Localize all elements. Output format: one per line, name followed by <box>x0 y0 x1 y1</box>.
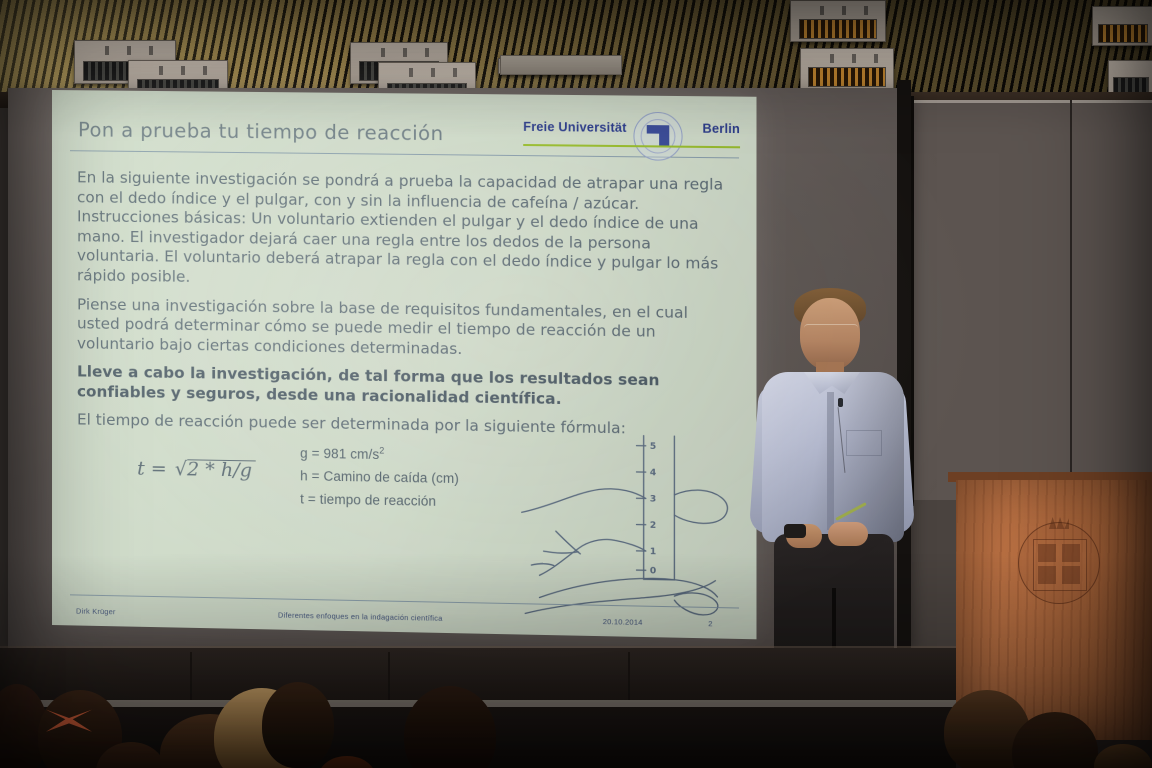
svg-text:2: 2 <box>650 521 656 531</box>
definition-g: g = 981 cm/s2 <box>300 438 459 467</box>
crest-quarter <box>1038 566 1056 584</box>
slide-paragraph: Piense una investigación sobre la base d… <box>77 295 734 364</box>
fu-berlin-seal-icon <box>633 112 682 161</box>
wall-seam <box>388 652 390 700</box>
superscript-2: 2 <box>379 445 384 455</box>
ceiling-air-vent <box>500 55 622 75</box>
fixture-vent <box>802 6 873 15</box>
slide-body: En la siguiente investigación se pondrá … <box>77 168 734 450</box>
svg-text:5: 5 <box>650 442 656 452</box>
footer-author: Dirk Krüger <box>76 606 116 616</box>
footer-date: 20.10.2014 <box>603 617 643 627</box>
lapel-microphone <box>838 398 843 407</box>
lecture-hall-scene: Pon a prueba tu tiempo de reacción Freie… <box>0 0 1152 768</box>
hand-catching-ruler-diagram: 5 4 3 2 1 0 <box>521 426 741 622</box>
formula-lhs: t = <box>137 457 167 480</box>
fixture-vent <box>391 68 464 77</box>
presenter-right-hand <box>828 522 868 546</box>
crest-quarter <box>1062 544 1080 562</box>
crest-shield <box>1033 539 1087 591</box>
projected-slide: Pon a prueba tu tiempo de reacción Freie… <box>52 90 756 639</box>
fu-logo-right-text: Berlin <box>702 122 740 137</box>
audience-head <box>262 682 334 768</box>
sketch-svg: 5 4 3 2 1 0 <box>521 426 741 622</box>
slide-paragraph: En la siguiente investigación se pondrá … <box>77 168 734 294</box>
ceiling-light-fixture <box>1092 6 1152 46</box>
fixture-vent <box>141 66 215 75</box>
square-root-icon: √2 * h/g <box>173 458 256 481</box>
acoustic-wall-panel <box>912 100 1152 500</box>
wall-seam <box>190 652 192 700</box>
wall-seam <box>628 652 630 700</box>
panel-seam <box>1070 100 1072 500</box>
ceiling-light-fixture <box>790 0 886 42</box>
slide-title: Pon a prueba tu tiempo de reacción <box>78 118 443 145</box>
slide-paragraph-bold: Lleve a cabo la investigación, de tal fo… <box>77 363 734 412</box>
fixture-vent <box>363 48 436 57</box>
glasses-icon <box>804 324 858 333</box>
slide-surface: Pon a prueba tu tiempo de reacción Freie… <box>52 90 756 639</box>
ceiling-light-fixture <box>800 48 894 90</box>
fu-logo-underline <box>523 144 740 149</box>
reaction-time-formula: t = √2 * h/g <box>137 457 256 481</box>
fixture-vent <box>812 54 882 63</box>
crest-quarter <box>1062 566 1080 584</box>
footer-center-text: Diferentes enfoques en la indagación cie… <box>278 610 443 622</box>
footer-page-number: 2 <box>708 619 712 628</box>
presenter-remote <box>784 524 806 538</box>
fu-berlin-logo: Freie Universität Berlin <box>523 117 740 154</box>
svg-text:3: 3 <box>650 494 656 504</box>
seal-emblem <box>647 125 670 145</box>
fixture-vent <box>87 46 163 55</box>
fixture-lens <box>799 19 878 39</box>
definition-h: h = Camino de caída (cm) <box>300 465 459 491</box>
formula-definitions: g = 981 cm/s2 h = Camino de caída (cm) t… <box>300 438 459 514</box>
panel-top-highlight <box>912 100 1152 103</box>
svg-text:1: 1 <box>650 547 656 557</box>
fixture-lens <box>808 67 885 87</box>
fu-logo-left-text: Freie Universität <box>523 120 626 135</box>
crest-quarter <box>1038 544 1056 562</box>
presenter-head <box>800 298 860 370</box>
formula-radicand: 2 * h/g <box>187 458 252 481</box>
fixture-lens <box>1098 24 1148 43</box>
ruler-tick-labels: 5 4 3 2 1 0 <box>650 442 656 577</box>
audience-head <box>1094 744 1152 768</box>
svg-text:4: 4 <box>650 468 656 478</box>
definition-t: t = tiempo de reacción <box>300 488 459 514</box>
svg-text:0: 0 <box>650 566 656 576</box>
shirt-shading <box>762 372 904 542</box>
university-crest-icon <box>1018 522 1100 604</box>
